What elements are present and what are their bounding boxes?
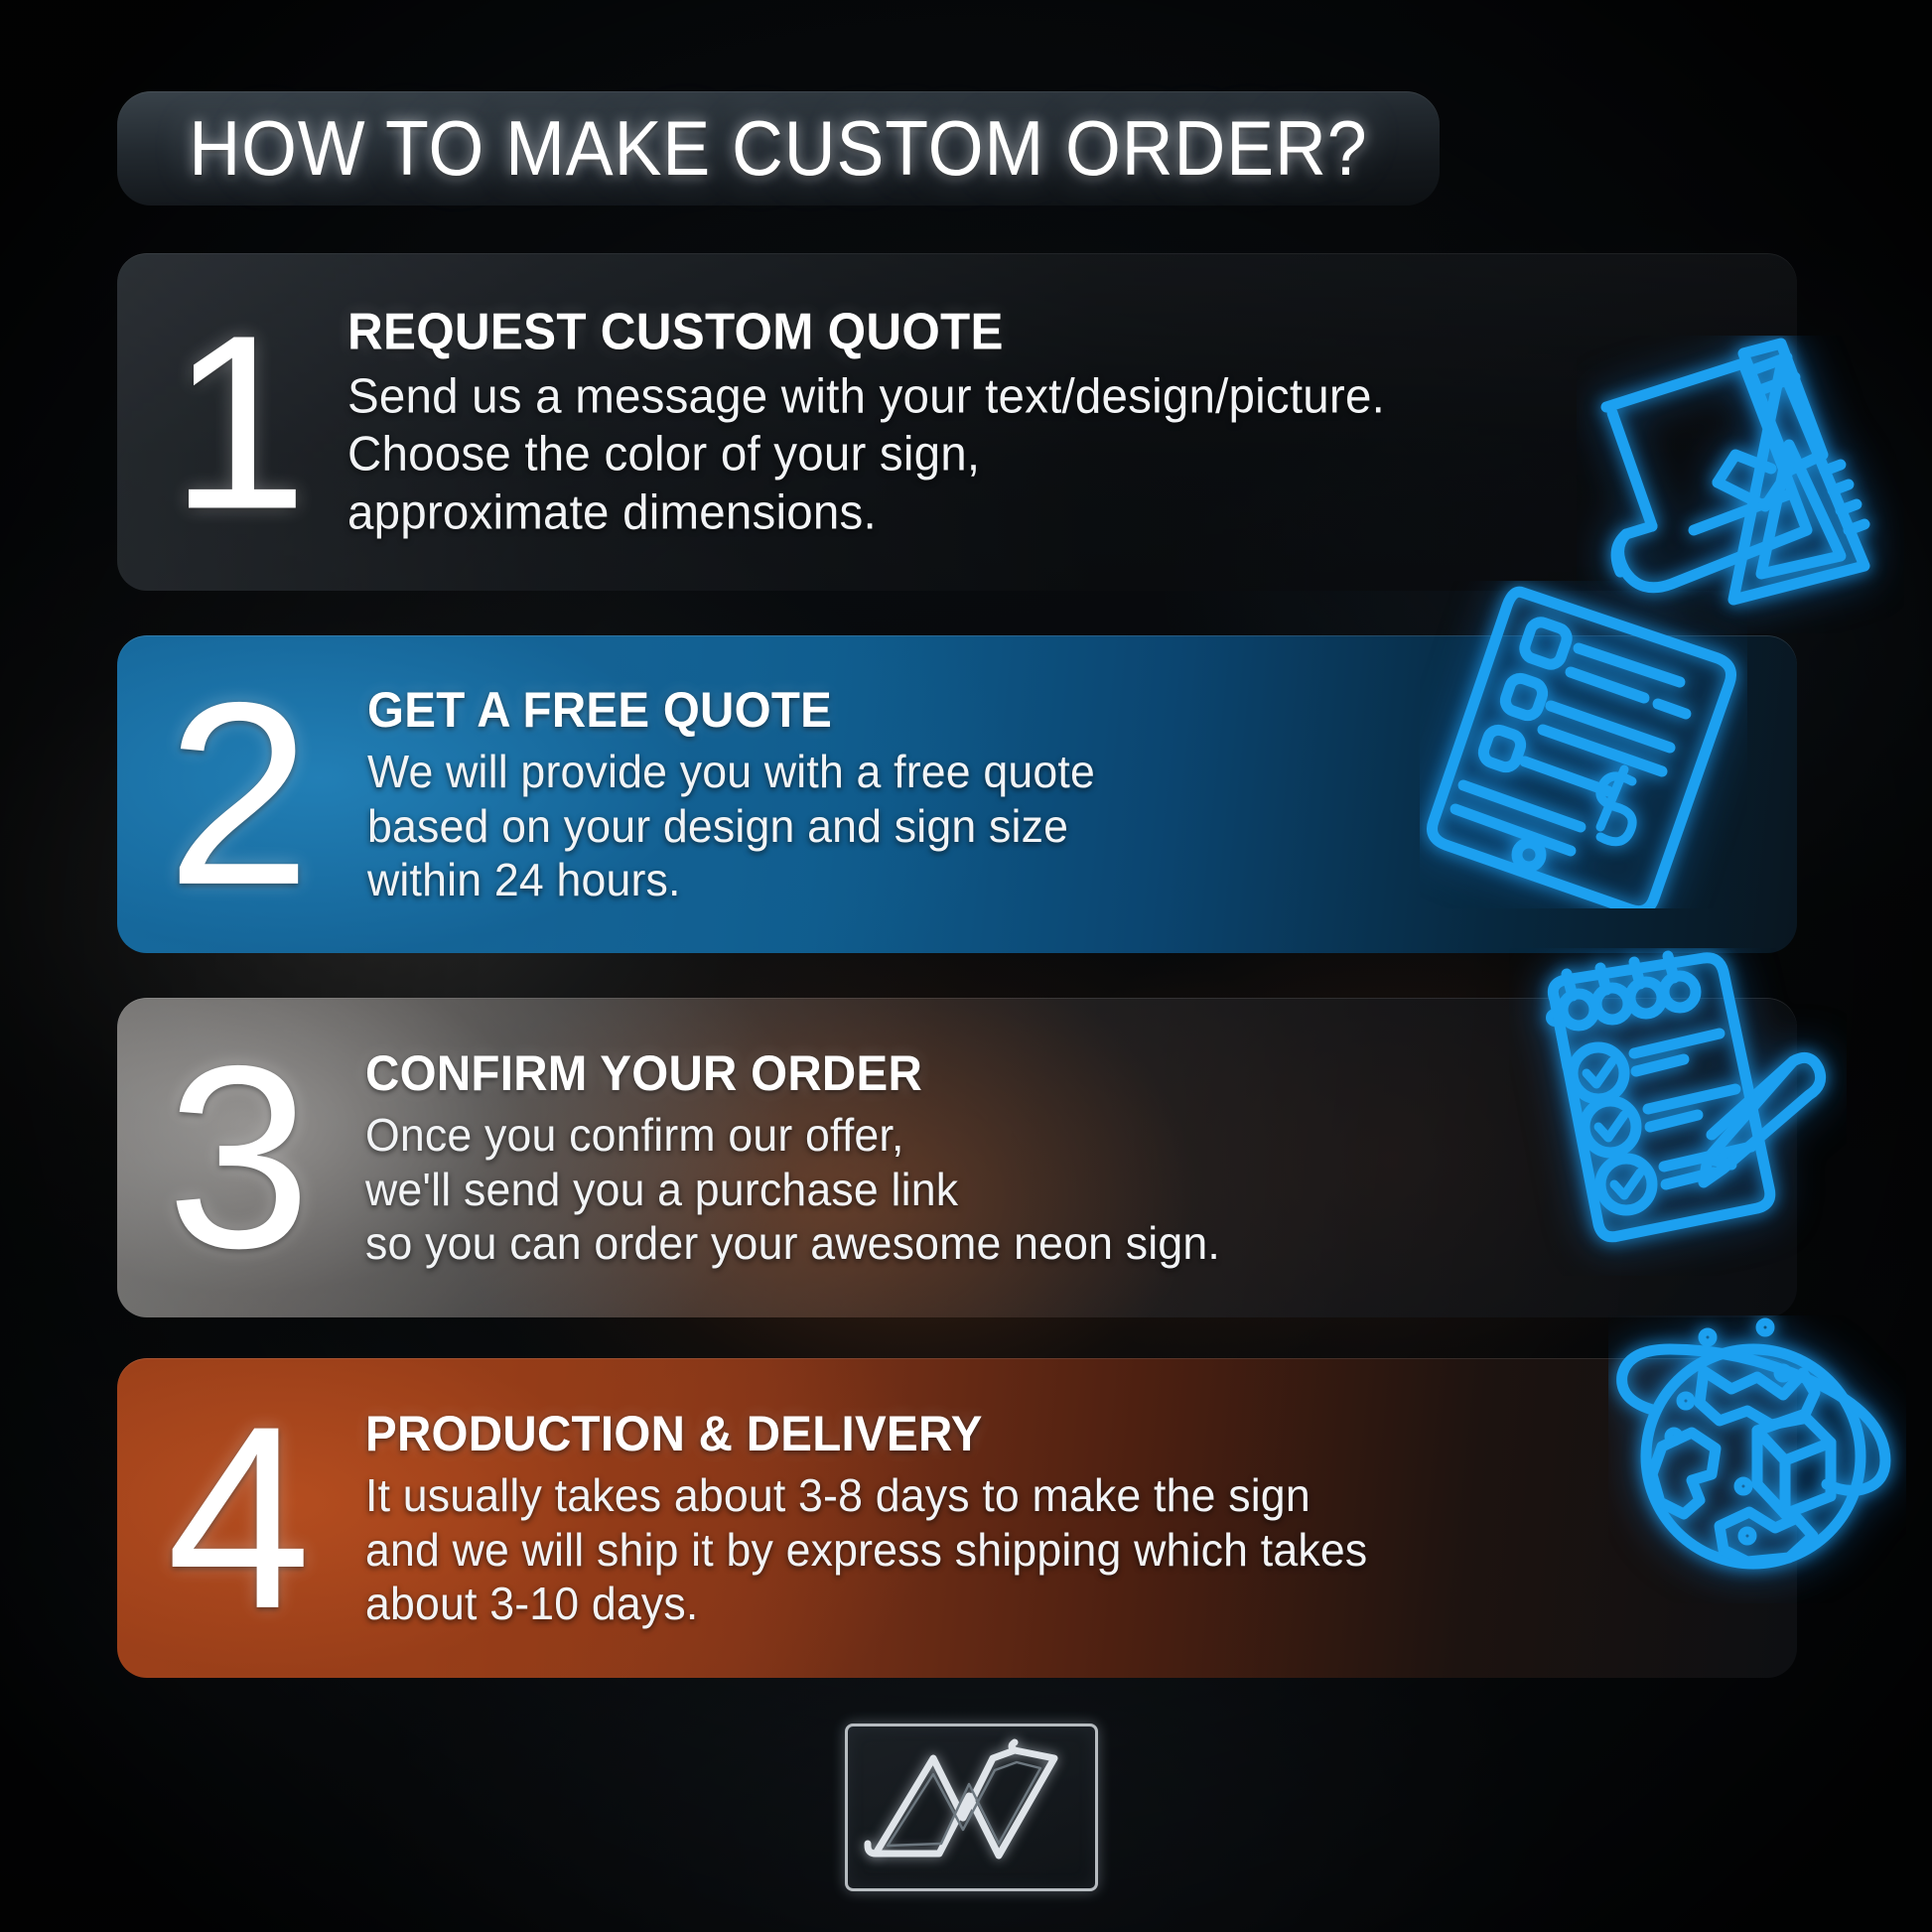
step-4-title: PRODUCTION & DELIVERY xyxy=(365,1405,1688,1462)
step-4-description: It usually takes about 3-8 days to make … xyxy=(365,1468,1716,1631)
step-1-description: Send us a message with your text/design/… xyxy=(347,368,1715,542)
step-4-line-1: It usually takes about 3-8 days to make … xyxy=(365,1468,1716,1523)
step-1-number: 1 xyxy=(145,326,329,519)
step-2-number: 2 xyxy=(145,693,329,896)
step-panel-1: 1 REQUEST CUSTOM QUOTE Send us a message… xyxy=(117,253,1797,591)
step-1-title: REQUEST CUSTOM QUOTE xyxy=(347,303,1687,362)
step-2-body: GET A FREE QUOTE We will provide you wit… xyxy=(367,681,1757,907)
step-3-title: CONFIRM YOUR ORDER xyxy=(365,1044,1688,1102)
step-3-line-1: Once you confirm our offer, xyxy=(365,1108,1716,1163)
page-title: HOW TO MAKE CUSTOM ORDER? xyxy=(170,91,1386,206)
step-2-line-1: We will provide you with a free quote xyxy=(367,745,1716,799)
step-1-body: REQUEST CUSTOM QUOTE Send us a message w… xyxy=(347,303,1757,542)
step-panel-4: 4 PRODUCTION & DELIVERY It usually takes… xyxy=(117,1358,1797,1678)
brand-logo xyxy=(845,1724,1098,1891)
step-3-number: 3 xyxy=(145,1056,329,1259)
step-4-body: PRODUCTION & DELIVERY It usually takes a… xyxy=(365,1405,1757,1631)
step-2-title: GET A FREE QUOTE xyxy=(367,681,1688,739)
step-panel-3: 3 CONFIRM YOUR ORDER Once you confirm ou… xyxy=(117,998,1797,1317)
step-4-number: 4 xyxy=(145,1417,329,1619)
step-2-line-2: based on your design and sign size xyxy=(367,799,1716,854)
step-1-line-2: Choose the color of your sign, xyxy=(347,426,1715,483)
step-2-line-3: within 24 hours. xyxy=(367,853,1716,907)
step-2-description: We will provide you with a free quote ba… xyxy=(367,745,1716,907)
step-4-line-2: and we will ship it by express shipping … xyxy=(365,1523,1716,1578)
infographic-canvas: HOW TO MAKE CUSTOM ORDER? 1 REQUEST CUST… xyxy=(0,0,1932,1932)
step-1-line-3: approximate dimensions. xyxy=(347,483,1715,541)
step-panel-2: 2 GET A FREE QUOTE We will provide you w… xyxy=(117,635,1797,953)
step-3-body: CONFIRM YOUR ORDER Once you confirm our … xyxy=(365,1044,1757,1271)
step-3-line-3: so you can order your awesome neon sign. xyxy=(365,1216,1716,1271)
step-3-line-2: we'll send you a purchase link xyxy=(365,1163,1716,1217)
step-4-line-3: about 3-10 days. xyxy=(365,1577,1716,1631)
step-3-description: Once you confirm our offer, we'll send y… xyxy=(365,1108,1716,1271)
step-1-line-1: Send us a message with your text/design/… xyxy=(347,368,1715,426)
